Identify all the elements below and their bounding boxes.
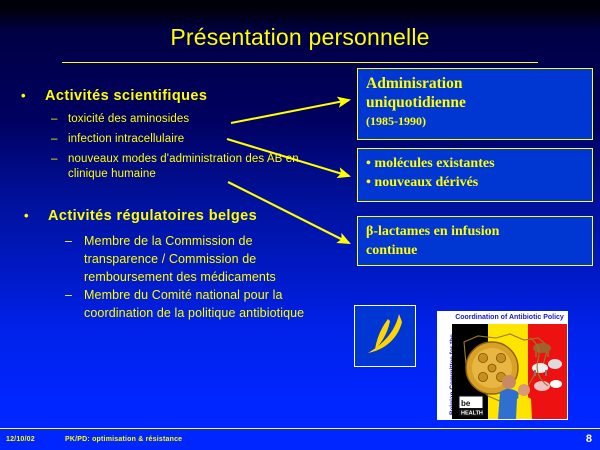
- svg-text:be: be: [461, 399, 471, 408]
- antibiotic-policy-poster: Belgian Committee for the Coordination o…: [437, 311, 568, 420]
- arrow-to-betalactames: [228, 182, 349, 243]
- page-number: 8: [586, 433, 592, 445]
- footer-date: 12/10/02: [6, 436, 35, 443]
- arrow-to-molecules: [227, 139, 349, 176]
- poster-header-text: Coordination of Antibiotic Policy: [452, 312, 567, 324]
- svg-text:HEALTH: HEALTH: [461, 411, 483, 417]
- poster-artwork: be HEALTH: [452, 324, 567, 419]
- slide-canvas: Présentation personnelle • Activités sci…: [0, 0, 600, 450]
- footer-subtitle: PK/PD: optimisation & résistance: [65, 436, 182, 443]
- bapcoc-logo: [354, 305, 416, 367]
- poster-side-text: Belgian Committee for the: [438, 312, 452, 419]
- arrow-to-administration: [231, 100, 349, 123]
- swoosh-icon: [355, 306, 413, 364]
- poster-illustration: be HEALTH: [452, 324, 567, 419]
